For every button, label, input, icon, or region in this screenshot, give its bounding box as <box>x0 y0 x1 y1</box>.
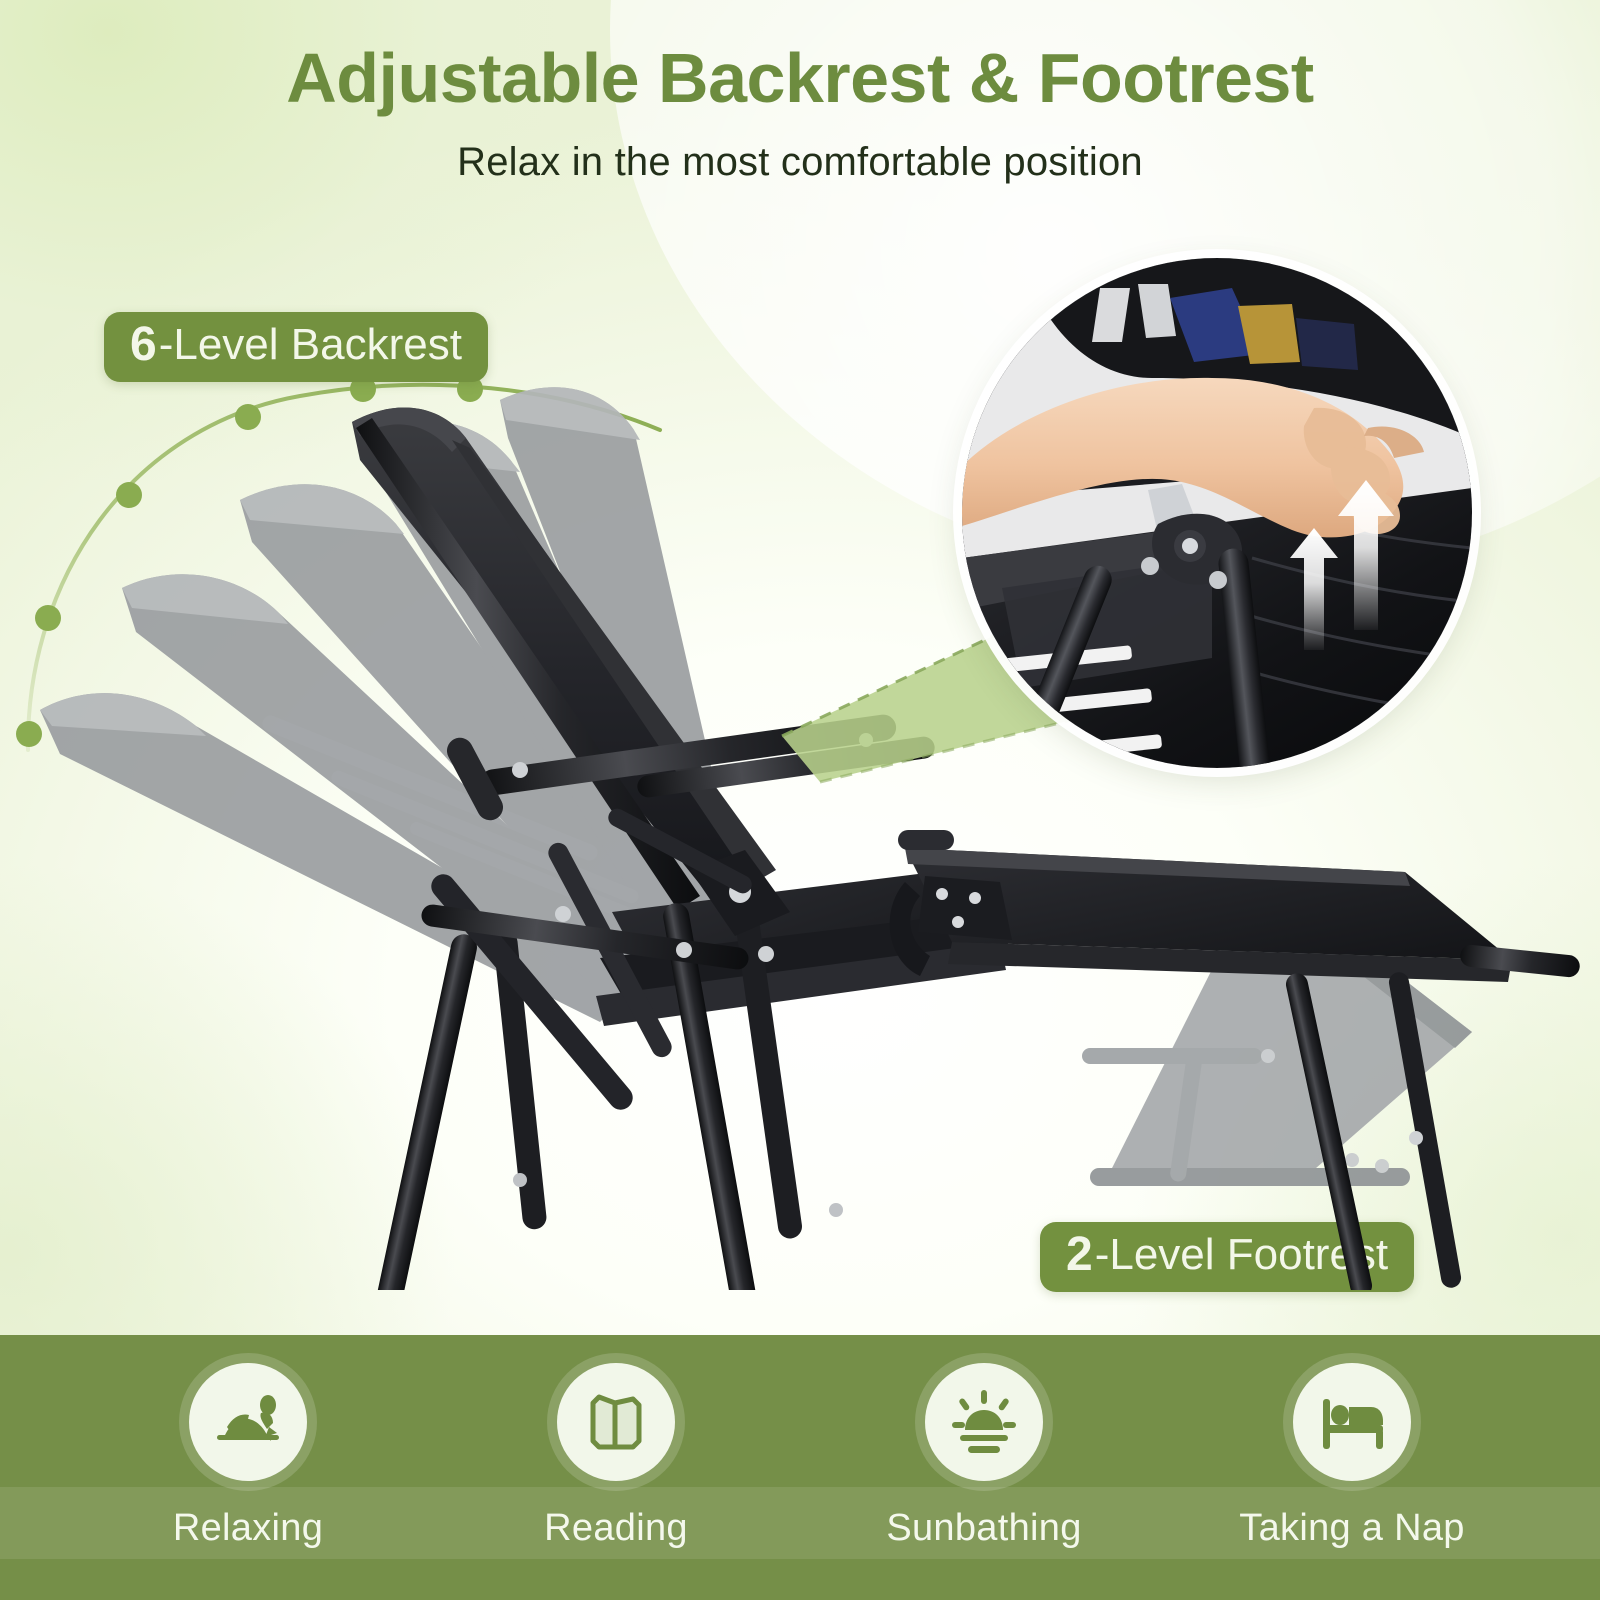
detail-photo-inset <box>962 258 1472 768</box>
feature-item-reading[interactable]: Reading <box>456 1363 776 1550</box>
feature-label: Relaxing <box>173 1507 323 1550</box>
feature-bar: Relaxing Reading <box>0 1335 1600 1600</box>
feature-item-taking-a-nap[interactable]: Taking a Nap <box>1192 1363 1512 1550</box>
person-reclining-icon <box>189 1363 307 1481</box>
infographic-canvas: Adjustable Backrest & Footrest Relax in … <box>0 0 1600 1600</box>
feature-label: Sunbathing <box>886 1507 1081 1550</box>
bed-icon <box>1293 1363 1411 1481</box>
open-book-icon <box>557 1363 675 1481</box>
feature-label: Reading <box>544 1507 688 1550</box>
sunrise-icon <box>925 1363 1043 1481</box>
feature-item-sunbathing[interactable]: Sunbathing <box>824 1363 1144 1550</box>
page-title: Adjustable Backrest & Footrest <box>0 42 1600 116</box>
feature-label: Taking a Nap <box>1239 1507 1464 1550</box>
feature-item-relaxing[interactable]: Relaxing <box>88 1363 408 1550</box>
